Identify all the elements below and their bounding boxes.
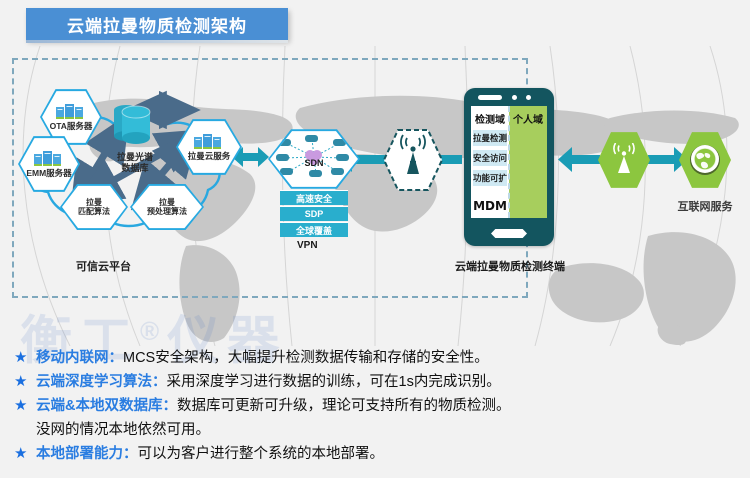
vpn-caption: VPN: [297, 240, 318, 251]
personal-zone-title: 个人域: [509, 106, 547, 126]
bullet-item-3: ★ 本地部署能力：可以为客户进行整个系统的本地部署。: [14, 444, 744, 464]
vpn-bar-1: SDP: [280, 206, 348, 221]
detection-terminal-phone[interactable]: 检测域 拉曼检测 安全访问 功能可扩 MDM 个人域: [464, 88, 554, 246]
bullet-heading: 云端&本地双数据库：: [36, 398, 177, 414]
node-label-line2: 匹配算法: [78, 207, 110, 216]
vpn-bar-label: 全球覆盖: [296, 224, 332, 237]
star-icon: ★: [14, 348, 36, 368]
vpn-caption-text: VPN: [297, 240, 318, 251]
feature-raman-detection[interactable]: 拉曼检测: [473, 130, 507, 146]
title-underline: [26, 40, 288, 43]
vpn-bar-0: 高速安全: [280, 190, 348, 205]
mdm-label: MDM: [471, 199, 509, 213]
database-cylinder-icon: [108, 98, 154, 155]
zone-divider: [508, 106, 510, 218]
bullet-body: MCS安全架构，大幅提升检测数据传输和存储的安全性。: [123, 350, 489, 366]
star-icon: ★: [14, 444, 36, 464]
node-raman-preprocessing-algorithm[interactable]: 拉曼 预处理算法: [130, 183, 204, 231]
page-title-banner: 云端拉曼物质检测架构: [26, 8, 288, 40]
hex-inner: SDN: [270, 130, 358, 188]
node-base-station[interactable]: [382, 128, 444, 192]
bullet-heading: 云端深度学习算法：: [36, 374, 167, 390]
cloud-platform-caption-text: 可信云平台: [76, 261, 131, 273]
phone-home-button[interactable]: [491, 229, 527, 238]
bullet-text: 云端深度学习算法：采用深度学习进行数据的训练，可在1s内完成识别。: [36, 372, 501, 392]
vpn-bar-label: 高速安全: [296, 192, 332, 205]
vpn-bar-label: SDP: [305, 209, 324, 219]
feature-extensible[interactable]: 功能可扩: [473, 170, 507, 186]
feature-secure-access[interactable]: 安全访问: [473, 150, 507, 166]
personal-zone: 个人域: [509, 106, 547, 218]
bullet-heading: 移动内联网：: [36, 350, 123, 366]
bullet-text: 本地部署能力：可以为客户进行整个系统的本地部署。: [36, 444, 384, 464]
detection-zone-title: 检测域: [471, 106, 509, 126]
phone-sensor-dot: [526, 95, 531, 100]
server-stack-icon: [192, 132, 226, 150]
star-icon: ★: [14, 396, 36, 416]
bullet-body: 数据库可更新可升级，理论可支持所有的物质检测。: [177, 398, 511, 414]
node-label-line2: 预处理算法: [147, 207, 187, 216]
star-icon: ★: [14, 372, 36, 392]
server-stack-icon: [54, 102, 88, 120]
bullet-item-2: ★ 云端&本地双数据库：数据库可更新可升级，理论可支持所有的物质检测。: [14, 396, 744, 416]
page-title: 云端拉曼物质检测架构: [67, 12, 247, 37]
terminal-caption-text: 云端拉曼物质检测终端: [455, 261, 565, 273]
phone-screen: 检测域 拉曼检测 安全访问 功能可扩 MDM 个人域: [471, 106, 547, 218]
bullet-body: 采用深度学习进行数据的训练，可在1s内完成识别。: [167, 374, 501, 390]
node-raman-cloud-service[interactable]: 拉曼云服务: [176, 118, 242, 176]
detection-zone: 检测域 拉曼检测 安全访问 功能可扩 MDM: [471, 106, 509, 218]
internet-service-caption-text: 互联网服务: [678, 201, 733, 213]
node-label-line1: 拉曼: [86, 198, 102, 207]
database-caption: 拉曼光谱 数据库: [100, 152, 170, 174]
node-label: 拉曼云服务: [188, 152, 231, 162]
bullet-item-0: ★ 移动内联网：MCS安全架构，大幅提升检测数据传输和存储的安全性。: [14, 348, 744, 368]
node-label-line1: 拉曼: [159, 198, 175, 207]
node-label: EMM服务器: [26, 169, 71, 179]
database-caption-line1: 拉曼光谱: [117, 152, 153, 162]
svg-text:SDN: SDN: [304, 158, 323, 168]
bullet-item-2-continuation: 没网的情况本地依然可用。: [14, 420, 744, 440]
phone-speaker-icon: [478, 95, 502, 100]
node-label: OTA服务器: [50, 122, 93, 132]
bullet-text: 云端&本地双数据库：数据库可更新可升级，理论可支持所有的物质检测。: [36, 396, 510, 416]
vpn-bar-2: 全球覆盖: [280, 222, 348, 237]
feature-bullet-list: ★ 移动内联网：MCS安全架构，大幅提升检测数据传输和存储的安全性。 ★ 云端深…: [14, 348, 744, 468]
database-caption-line2: 数据库: [121, 163, 148, 173]
phone-camera-dot: [512, 95, 517, 100]
cloud-platform-caption: 可信云平台: [76, 258, 131, 274]
sdn-network-icon: SDN: [274, 134, 354, 185]
bullet-body: 可以为客户进行整个系统的本地部署。: [138, 446, 385, 462]
bullet-heading: 本地部署能力：: [36, 446, 138, 462]
node-sdn-network[interactable]: SDN: [268, 128, 360, 190]
server-stack-icon: [32, 149, 66, 167]
slide-canvas: 衡工®仪器 云端拉曼物质检测架构: [0, 0, 750, 478]
bullet-item-1: ★ 云端深度学习算法：采用深度学习进行数据的训练，可在1s内完成识别。: [14, 372, 744, 392]
node-raman-matching-algorithm[interactable]: 拉曼 匹配算法: [60, 183, 128, 231]
bullet-text: 移动内联网：MCS安全架构，大幅提升检测数据传输和存储的安全性。: [36, 348, 489, 368]
internet-service-caption: 互联网服务: [660, 198, 750, 214]
terminal-caption: 云端拉曼物质检测终端: [440, 258, 580, 274]
